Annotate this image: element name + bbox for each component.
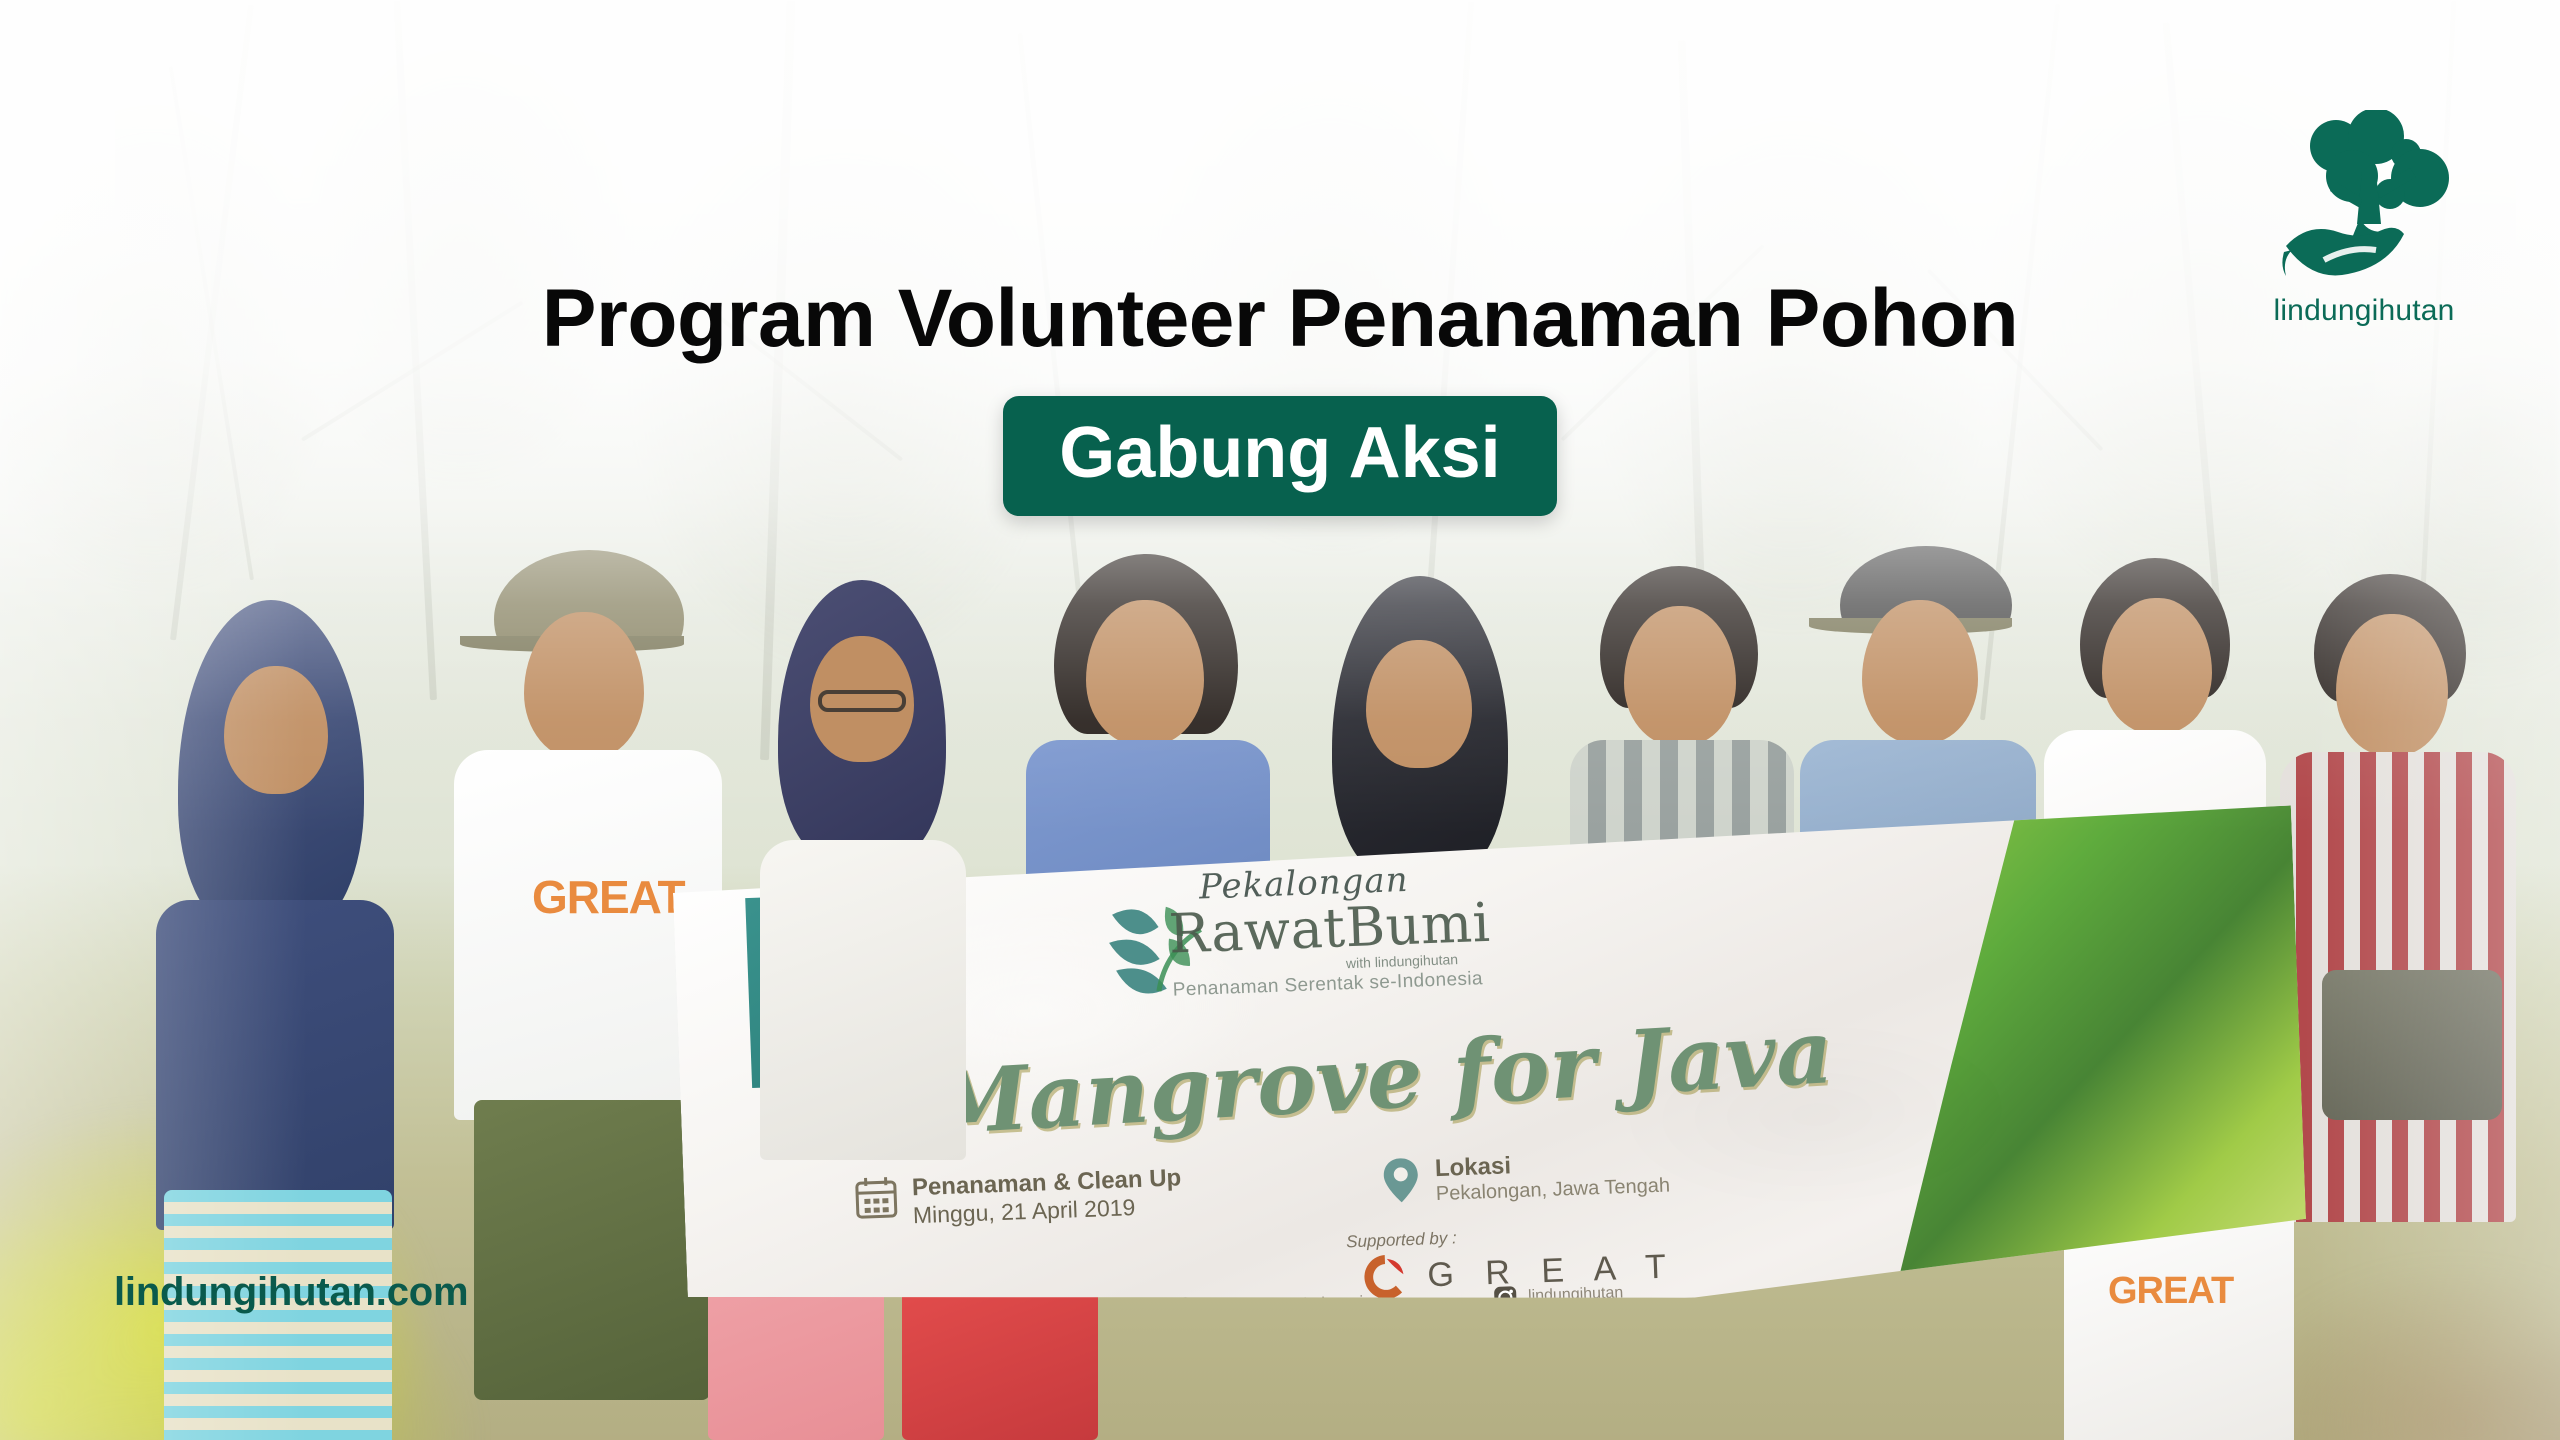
person-11 bbox=[2270, 540, 2520, 1440]
cta-container: Gabung Aksi bbox=[0, 396, 2560, 516]
background-photo: GREAT bbox=[0, 0, 2560, 1440]
banner-organizer-lockup: Pekalongan RawatBumi with lindungihutan … bbox=[1112, 855, 1537, 1003]
person-5 bbox=[760, 540, 970, 1440]
page-title: Program Volunteer Penanaman Pohon bbox=[0, 272, 2560, 366]
promo-banner-canvas: GREAT bbox=[0, 0, 2560, 1440]
brand-logo: lindungihutan bbox=[2264, 110, 2464, 328]
banner-meta-location: Lokasi Pekalongan, Jawa Tengah bbox=[1381, 1147, 1671, 1213]
tree-in-hand-icon bbox=[2264, 110, 2464, 300]
gabung-aksi-button[interactable]: Gabung Aksi bbox=[1003, 396, 1556, 516]
site-watermark: lindungihutan.com bbox=[114, 1270, 468, 1315]
location-pin-icon bbox=[1381, 1156, 1423, 1205]
brand-wordmark: lindungihutan bbox=[2264, 294, 2464, 328]
